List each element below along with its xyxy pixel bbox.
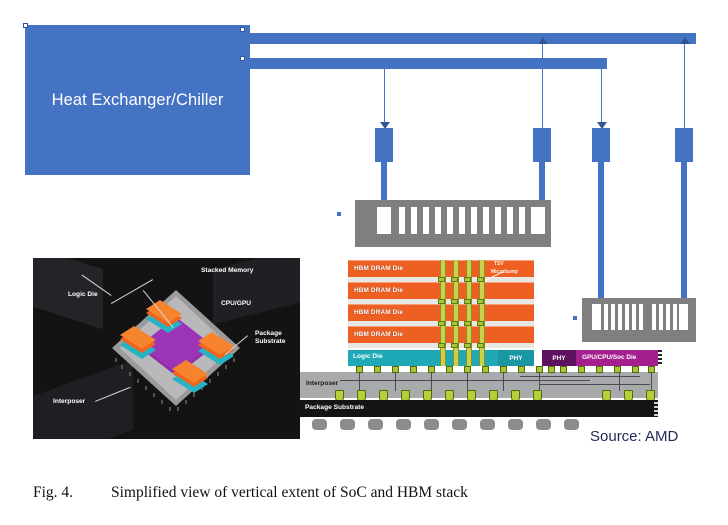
microbump: [464, 343, 471, 348]
fin: [632, 304, 636, 330]
microbump: [477, 343, 484, 348]
fin: [459, 207, 465, 234]
inset-label-package-substrate: Package Substrate: [255, 330, 285, 346]
bga-ball: [396, 419, 411, 430]
dram-die-label: HBM DRAM Die: [354, 331, 403, 338]
bga-ball: [508, 419, 523, 430]
soc-phy-block: PHY: [542, 350, 576, 366]
hbm-dram-stack: HBM DRAM Die HBM DRAM Die HBM DRAM Die H…: [348, 260, 534, 360]
fin: [399, 207, 405, 234]
coupler-soc-out[interactable]: [675, 128, 693, 162]
heat-exchanger-block[interactable]: Heat Exchanger/Chiller: [25, 25, 250, 175]
inset-label-interposer: Interposer: [53, 398, 85, 406]
microbump: [477, 299, 484, 304]
fin: [435, 207, 441, 234]
fin: [618, 304, 622, 330]
bga-ball: [480, 419, 495, 430]
package-substrate-block: Package Substrate: [300, 400, 658, 417]
fin: [592, 304, 601, 330]
fin: [604, 304, 608, 330]
microbump: [451, 299, 458, 304]
microbump: [446, 366, 453, 373]
soc-die-row: PHY GPU/CPU/Soc Die: [542, 350, 658, 366]
hbm-supply-line: [384, 69, 385, 125]
microbump: [428, 366, 435, 373]
hbm-cold-plate[interactable]: [355, 200, 551, 247]
stray-marker-2: [573, 316, 577, 320]
microbump: [438, 343, 445, 348]
hbm-phy-block: PHY: [498, 350, 534, 366]
dram-die-label: HBM DRAM Die: [354, 309, 403, 316]
coupler-soc-in[interactable]: [592, 128, 610, 162]
interposer-via: [651, 373, 652, 391]
selection-handle-r1[interactable]: [240, 27, 245, 32]
amd-package-photo-inset: Stacked Memory Logic Die CPU/GPU Package…: [33, 258, 300, 439]
microbump: [596, 366, 603, 373]
microbump: [451, 277, 458, 282]
figure-canvas: Heat Exchanger/Chiller: [0, 0, 728, 525]
fin: [377, 207, 391, 234]
fin: [625, 304, 629, 330]
fin: [531, 207, 545, 234]
bga-ball: [368, 419, 383, 430]
bga-ball: [564, 419, 579, 430]
microbump: [392, 366, 399, 373]
selection-handle-tl[interactable]: [23, 23, 28, 28]
interposer-via: [467, 373, 468, 391]
bga-ball: [536, 419, 551, 430]
inset-label-cpu-gpu: CPU/GPU: [221, 300, 251, 308]
heat-exchanger-label: Heat Exchanger/Chiller: [52, 91, 224, 110]
tsv-column: [466, 260, 472, 350]
microbump: [410, 366, 417, 373]
dram-die-label: HBM DRAM Die: [354, 265, 403, 272]
microbump: [614, 366, 621, 373]
interposer-via: [503, 373, 504, 391]
fin: [471, 207, 477, 234]
bga-ball: [312, 419, 327, 430]
tsv-column: [453, 350, 459, 366]
microbump: [560, 366, 567, 373]
downpipe-soc-in: [598, 162, 604, 306]
soc-die-label: GPU/CPU/Soc Die: [582, 354, 636, 361]
selection-handle-r2[interactable]: [240, 56, 245, 61]
fin: [639, 304, 643, 330]
fin: [611, 304, 615, 330]
microbump: [438, 299, 445, 304]
fin: [423, 207, 429, 234]
soc-return-arrowhead: [680, 37, 690, 44]
microbump: [548, 366, 555, 373]
dram-die-label: HBM DRAM Die: [354, 287, 403, 294]
microbump: [356, 366, 363, 373]
tsv-column: [453, 260, 459, 350]
fin: [666, 304, 670, 330]
microbump: [648, 366, 655, 373]
figure-caption: Fig. 4.Simplified view of vertical exten…: [33, 484, 693, 502]
coupler-hbm-in[interactable]: [375, 128, 393, 162]
microbump: [578, 366, 585, 373]
hbm-return-arrowhead: [538, 37, 548, 44]
tsv-column: [479, 260, 485, 350]
microbump: [632, 366, 639, 373]
interposer-via: [395, 373, 396, 391]
interposer-via: [619, 373, 620, 391]
interposer-via: [359, 373, 360, 391]
microbump: [451, 321, 458, 326]
fin: [519, 207, 525, 234]
tsv-column: [466, 350, 472, 366]
microbump: [464, 366, 471, 373]
soc-edge-hatch: [658, 350, 662, 366]
coupler-hbm-out[interactable]: [533, 128, 551, 162]
interposer-via: [431, 373, 432, 391]
supply-manifold-pipe: [250, 58, 607, 69]
interposer-trace: [540, 384, 650, 385]
microbump: [536, 366, 543, 373]
microbump: [518, 366, 525, 373]
microbump: [477, 277, 484, 282]
figure-number: Fig. 4.: [33, 484, 111, 502]
interposer-trace: [340, 380, 590, 381]
microbump: [464, 321, 471, 326]
microbump: [464, 277, 471, 282]
interposer-via: [539, 373, 540, 391]
microbump: [477, 321, 484, 326]
fin: [679, 304, 688, 330]
microbump: [438, 321, 445, 326]
fin: [411, 207, 417, 234]
microbump: [482, 366, 489, 373]
downpipe-soc-out: [681, 162, 687, 306]
fin: [483, 207, 489, 234]
tsv-column: [440, 350, 446, 366]
fin: [652, 304, 656, 330]
package-substrate-label: Package Substrate: [305, 404, 364, 411]
source-credit: Source: AMD: [590, 428, 678, 445]
microbump: [464, 299, 471, 304]
tsv-note-line1: TSV: [494, 261, 504, 267]
soc-supply-line: [601, 69, 602, 125]
return-manifold-pipe: [250, 33, 696, 44]
hbm-return-line: [542, 44, 543, 128]
bga-ball: [452, 419, 467, 430]
interposer-label: Interposer: [306, 380, 338, 387]
fin: [507, 207, 513, 234]
fin: [673, 304, 677, 330]
bga-ball: [340, 419, 355, 430]
microbump: [500, 366, 507, 373]
substrate-edge-hatch: [654, 400, 658, 417]
logic-die-label: Logic Die: [353, 353, 383, 360]
bga-ball: [424, 419, 439, 430]
fin: [495, 207, 501, 234]
microbump: [438, 277, 445, 282]
microbump: [374, 366, 381, 373]
tsv-column: [479, 350, 485, 366]
tsv-column: [440, 260, 446, 350]
stray-marker-1: [337, 212, 341, 216]
inset-label-stacked-memory: Stacked Memory: [201, 267, 253, 275]
fin: [447, 207, 453, 234]
inset-label-logic-die: Logic Die: [68, 291, 98, 299]
figure-caption-text: Simplified view of vertical extent of So…: [111, 484, 468, 501]
interposer-trace: [520, 376, 640, 377]
soc-cold-plate[interactable]: [582, 298, 696, 342]
soc-return-line: [684, 44, 685, 128]
microbump: [451, 343, 458, 348]
fin: [659, 304, 663, 330]
